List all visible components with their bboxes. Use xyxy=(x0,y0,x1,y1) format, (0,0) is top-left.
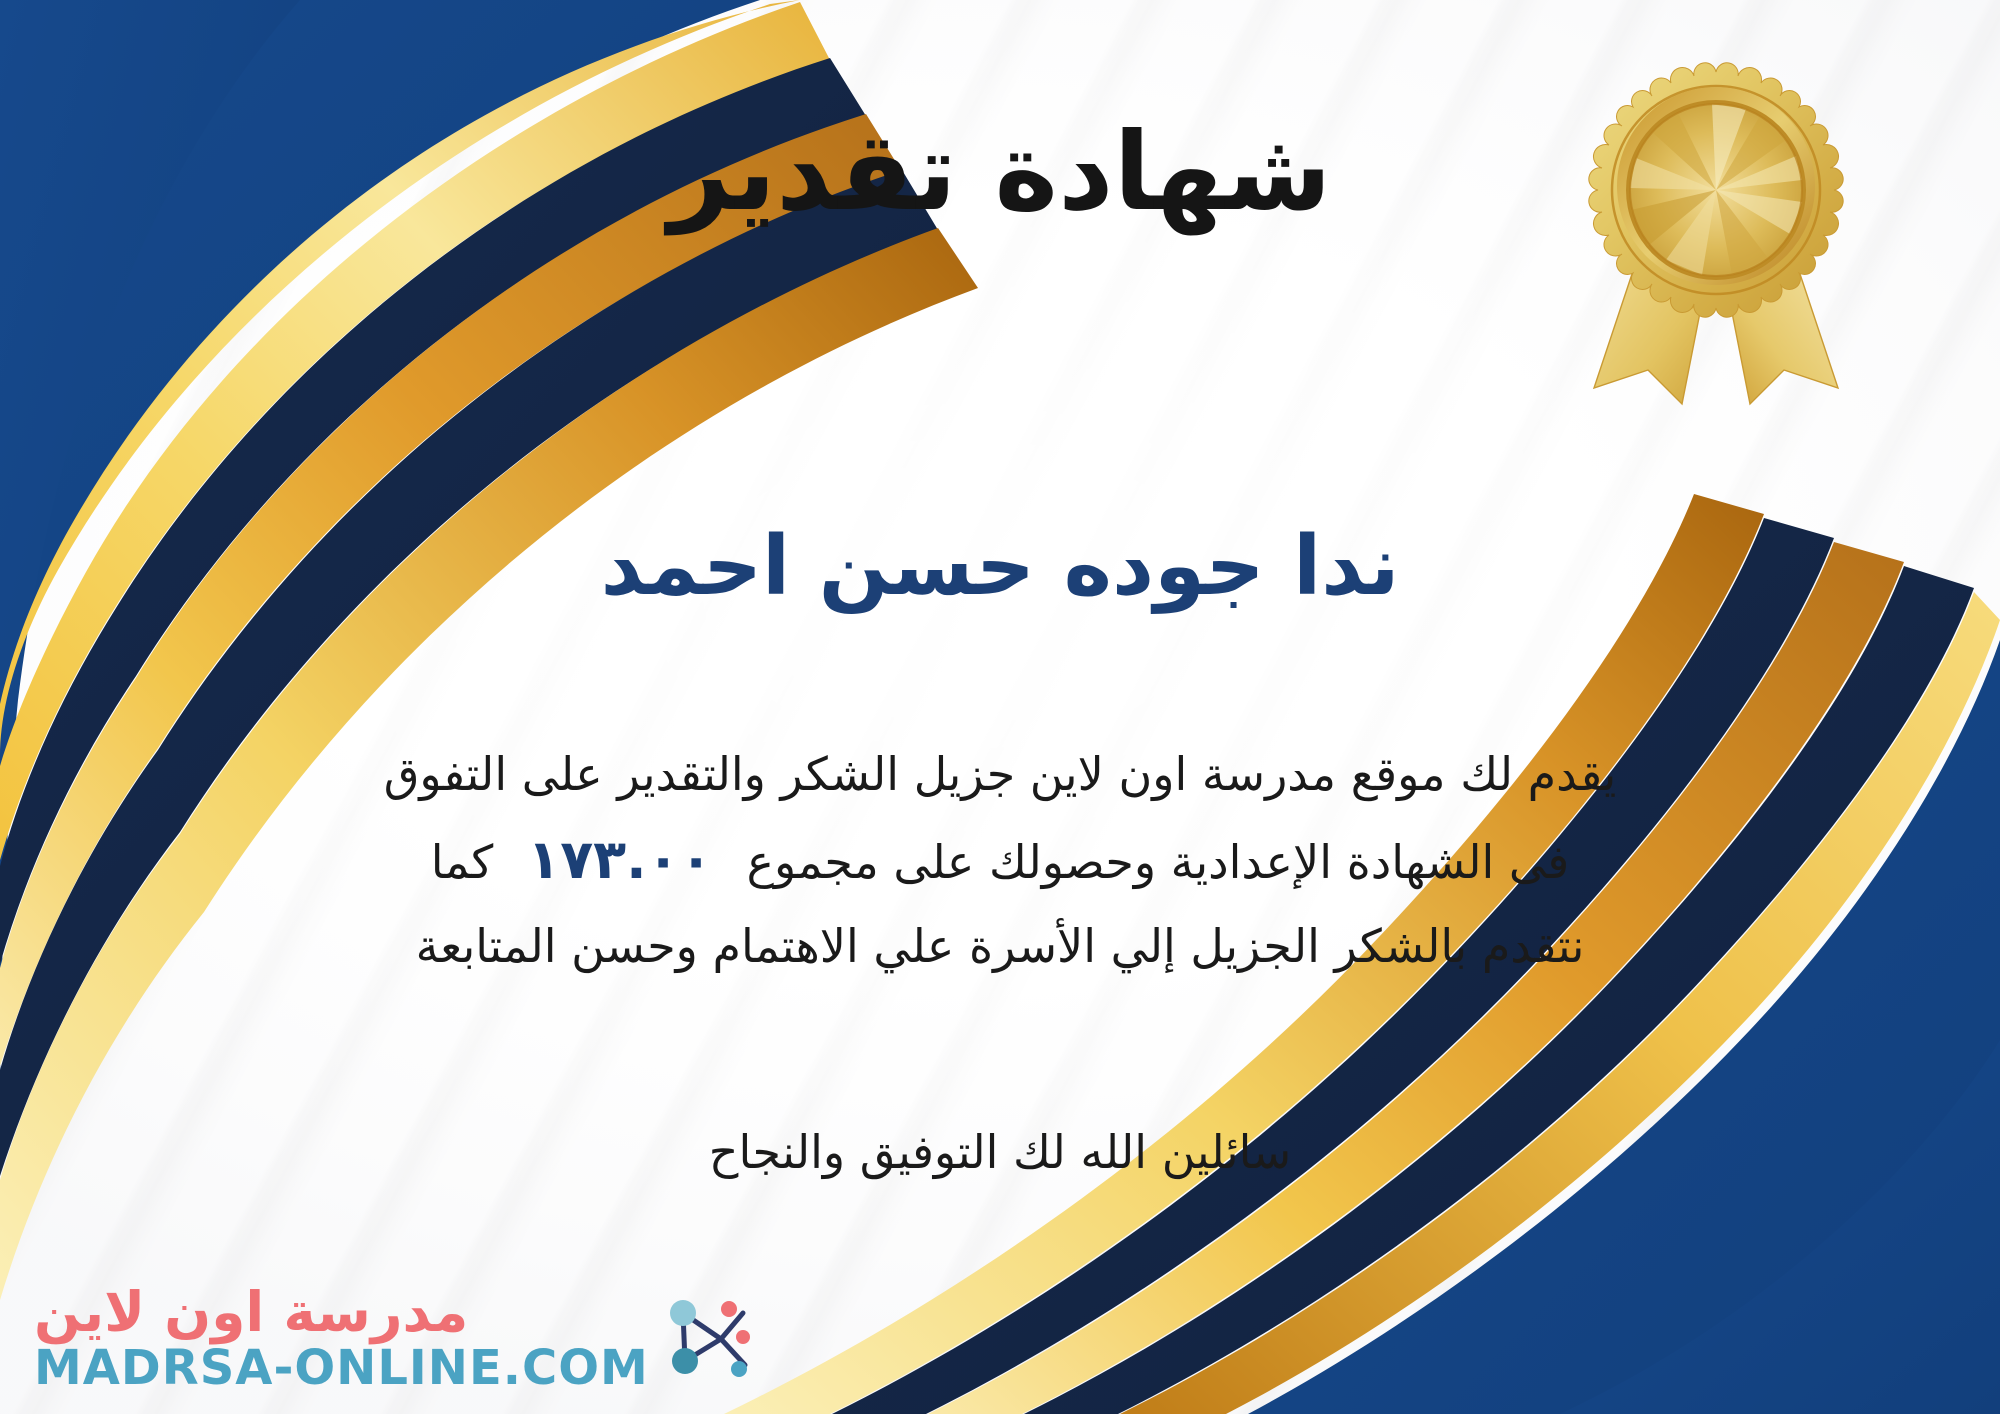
body-line-3: نتقدم بالشكر الجزيل إلي الأسرة علي الاهت… xyxy=(60,907,1940,986)
certificate-canvas: شهادة تقدير ندا جوده حسن احمد يقدم لك مو… xyxy=(0,0,2000,1414)
node-bottom-right xyxy=(731,1361,747,1377)
certificate-body: يقدم لك موقع مدرسة اون لاين جزيل الشكر و… xyxy=(60,735,1940,986)
network-nodes-icon xyxy=(659,1291,751,1387)
page-title: شهادة تقدير xyxy=(0,108,2000,238)
brand-website-url: MADRSA-ONLINE.COM xyxy=(34,1344,649,1392)
node-top-right xyxy=(721,1301,737,1317)
brand-text-block: مدرسة اون لاين MADRSA-ONLINE.COM xyxy=(34,1285,649,1392)
body-line-1: يقدم لك موقع مدرسة اون لاين جزيل الشكر و… xyxy=(60,735,1940,814)
body-line-2-suffix: كما xyxy=(431,835,494,889)
node-bottom-left xyxy=(672,1348,698,1374)
brand-arabic-name: مدرسة اون لاين xyxy=(34,1285,468,1340)
brand-logo[interactable]: مدرسة اون لاين MADRSA-ONLINE.COM xyxy=(34,1285,751,1392)
body-line-2: فى الشهادة الإعدادية وحصولك على مجموع١٧٣… xyxy=(60,814,1940,907)
node-top-left xyxy=(670,1300,696,1326)
node-right xyxy=(736,1330,750,1344)
closing-line: سائلين الله لك التوفيق والنجاح xyxy=(0,1118,2000,1187)
recipient-name: ندا جوده حسن احمد xyxy=(0,518,2000,616)
body-line-2-prefix: فى الشهادة الإعدادية وحصولك على مجموع xyxy=(747,835,1570,889)
grade-total-value: ١٧٣.٠٠ xyxy=(493,828,746,891)
